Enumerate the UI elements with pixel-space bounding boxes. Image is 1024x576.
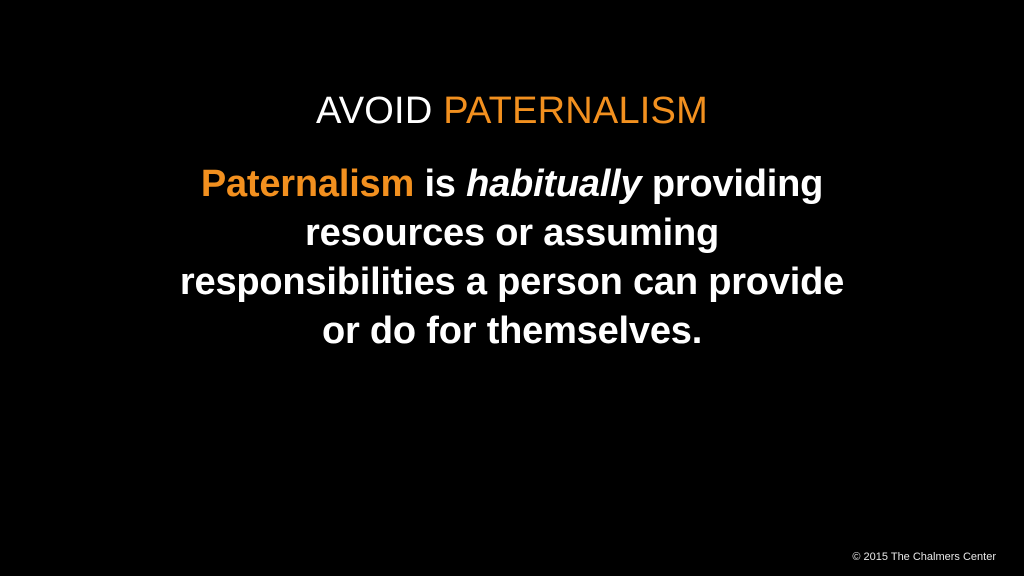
presentation-slide: AVOID PATERNALISM Paternalism is habitua… bbox=[0, 0, 1024, 576]
slide-title-word-avoid: AVOID bbox=[316, 90, 443, 132]
body-line-1-text-after-italic: providing bbox=[641, 163, 823, 205]
body-line-3: responsibilities a person can provide bbox=[0, 258, 1024, 307]
slide-title: AVOID PATERNALISM bbox=[0, 89, 1024, 133]
body-line-1: Paternalism is habitually providing bbox=[0, 160, 1024, 209]
body-term-paternalism: Paternalism bbox=[201, 163, 414, 205]
body-line-1-text-before-italic: is bbox=[414, 163, 466, 205]
slide-title-word-paternalism: PATERNALISM bbox=[443, 90, 708, 132]
body-term-habitually: habitually bbox=[466, 163, 641, 205]
body-line-2: resources or assuming bbox=[0, 209, 1024, 258]
slide-body-text: Paternalism is habitually providing reso… bbox=[0, 160, 1024, 356]
body-line-4: or do for themselves. bbox=[0, 307, 1024, 356]
copyright-footer: © 2015 The Chalmers Center bbox=[852, 550, 996, 564]
